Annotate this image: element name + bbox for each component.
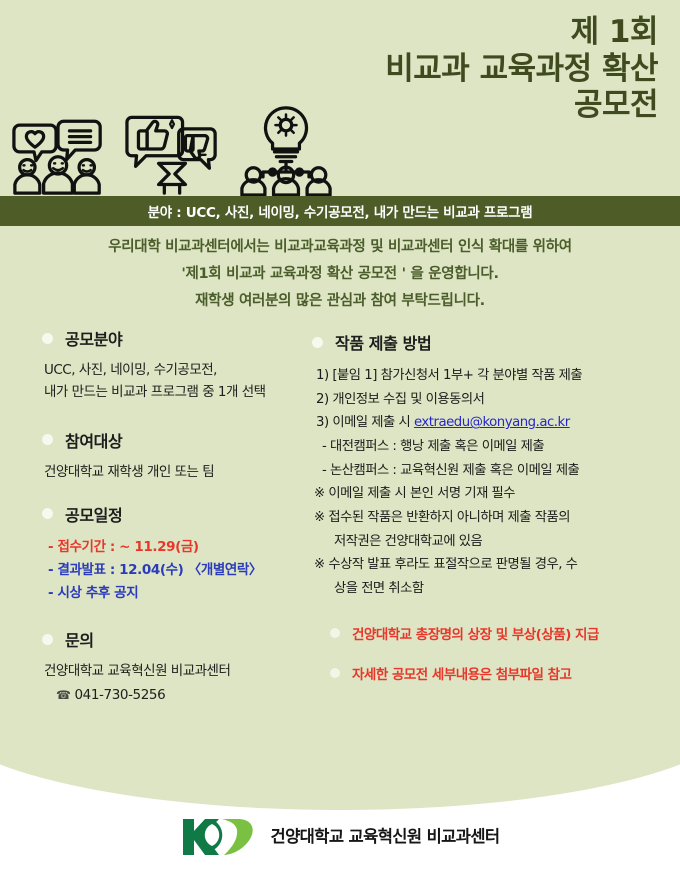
bullet-dot-icon [312, 337, 323, 348]
intro-line-2: '제1회 비교과 교육과정 확산 공모전 ' 을 운영합니다. [0, 261, 680, 288]
submission-note-3-cont: 상을 전면 취소함 [312, 577, 664, 601]
submission-note-1: ※ 이메일 제출 시 본인 서명 기재 필수 [312, 482, 664, 506]
section-schedule: 공모일정 - 접수기간 : ~ 11.29(금) - 결과발표 : 12.04(… [42, 502, 332, 606]
section-body-line: 건양대학교 재학생 개인 또는 팀 [42, 462, 332, 484]
schedule-item-award: - 시상 추후 공지 [42, 582, 332, 605]
title-line-3: 공모전 [385, 87, 658, 124]
submission-step-3-prefix: 3) 이메일 제출 시 [316, 415, 414, 430]
contact-organization: 건양대학교 교육혁신원 비교과센터 [42, 661, 332, 683]
right-column: 작품 제출 방법 1) [붙임 1] 참가신청서 1부+ 각 분야별 작품 제출… [312, 330, 664, 703]
section-title: 작품 제출 방법 [335, 330, 431, 354]
section-body-line: UCC, 사진, 네이밍, 수기공모전, [42, 360, 332, 382]
intro-line-1: 우리대학 비교과센터에서는 비교과교육과정 및 비교과센터 인식 확대를 위하여 [0, 234, 680, 261]
speech-bubbles-people-icon [10, 104, 106, 196]
submission-step-1: 1) [붙임 1] 참가신청서 1부+ 각 분야별 작품 제출 [312, 364, 664, 388]
section-body-line: 내가 만드는 비교과 프로그램 중 1개 선택 [42, 382, 332, 404]
submission-campus-daejeon: - 대전캠퍼스 : 행낭 제출 혹은 이메일 제출 [312, 435, 664, 459]
highlight-box: 건양대학교 총장명의 상장 및 부상(상품) 지급 자세한 공모전 세부내용은 … [312, 623, 664, 683]
section-contest-fields: 공모분야 UCC, 사진, 네이밍, 수기공모전, 내가 만드는 비교과 프로그… [42, 326, 332, 404]
submission-note-2-cont: 저작권은 건양대학교에 있음 [312, 530, 664, 554]
icon-row [10, 104, 334, 196]
footer: 건양대학교 교육혁신원 비교과센터 [0, 815, 680, 855]
lightbulb-network-icon [238, 104, 334, 196]
section-eligibility: 참여대상 건양대학교 재학생 개인 또는 팀 [42, 428, 332, 484]
bullet-dot-icon [330, 668, 340, 678]
telephone-icon: ☎ [56, 688, 71, 702]
ky-logo [181, 815, 255, 855]
poster-title: 제 1회 비교과 교육과정 확산 공모전 [385, 14, 658, 124]
contact-phone-number: 041-730-5256 [74, 687, 165, 703]
section-header: 공모일정 [42, 502, 332, 526]
schedule-item-results: - 결과발표 : 12.04(수) 〈개별연락〉 [42, 559, 332, 582]
section-header-submission: 작품 제출 방법 [312, 330, 664, 354]
bullet-dot-icon [330, 628, 340, 638]
poster-canvas: 제 1회 비교과 교육과정 확산 공모전 [0, 0, 680, 869]
submission-step-3: 3) 이메일 제출 시 extraedu@konyang.ac.kr [312, 411, 664, 435]
highlight-row-prize: 건양대학교 총장명의 상장 및 부상(상품) 지급 [330, 623, 664, 643]
section-header: 문의 [42, 627, 332, 651]
intro-paragraph: 우리대학 비교과센터에서는 비교과교육과정 및 비교과센터 인식 확대를 위하여… [0, 234, 680, 314]
bullet-dot-icon [42, 508, 53, 519]
section-header: 참여대상 [42, 428, 332, 452]
section-header: 공모분야 [42, 326, 332, 350]
bullet-dot-icon [42, 634, 53, 645]
contact-phone-row: ☎ 041-730-5256 [42, 683, 332, 707]
category-banner: 분야 : UCC, 사진, 네이밍, 수기공모전, 내가 만드는 비교과 프로그… [0, 196, 680, 226]
title-line-2: 비교과 교육과정 확산 [385, 51, 658, 88]
bullet-dot-icon [42, 434, 53, 445]
section-title: 공모일정 [65, 502, 122, 526]
section-title: 참여대상 [65, 428, 122, 452]
left-column: 공모분야 UCC, 사진, 네이밍, 수기공모전, 내가 만드는 비교과 프로그… [42, 326, 332, 723]
thumbs-feedback-icon [124, 104, 220, 196]
highlight-text: 건양대학교 총장명의 상장 및 부상(상품) 지급 [352, 623, 599, 643]
bullet-dot-icon [42, 333, 53, 344]
highlight-row-attachment: 자세한 공모전 세부내용은 첨부파일 참고 [330, 663, 664, 683]
title-line-1: 제 1회 [385, 14, 658, 51]
section-title: 공모분야 [65, 326, 122, 350]
footer-text: 건양대학교 교육혁신원 비교과센터 [271, 823, 500, 847]
submission-note-2: ※ 접수된 작품은 반환하지 아니하며 제출 작품의 [312, 506, 664, 530]
submission-campus-nonsan: - 논산캠퍼스 : 교육혁신원 제출 혹은 이메일 제출 [312, 459, 664, 483]
section-contact: 문의 건양대학교 교육혁신원 비교과센터 ☎ 041-730-5256 [42, 627, 332, 707]
submission-note-3: ※ 수상작 발표 후라도 표절작으로 판명될 경우, 수 [312, 553, 664, 577]
intro-line-3: 재학생 여러분의 많은 관심과 참여 부탁드립니다. [0, 288, 680, 315]
category-banner-text: 분야 : UCC, 사진, 네이밍, 수기공모전, 내가 만드는 비교과 프로그… [148, 201, 533, 221]
submission-email-link[interactable]: extraedu@konyang.ac.kr [414, 415, 570, 430]
section-title: 문의 [65, 627, 94, 651]
schedule-item-deadline: - 접수기간 : ~ 11.29(금) [42, 536, 332, 559]
highlight-text: 자세한 공모전 세부내용은 첨부파일 참고 [352, 663, 571, 683]
submission-step-2: 2) 개인정보 수집 및 이용동의서 [312, 388, 664, 412]
